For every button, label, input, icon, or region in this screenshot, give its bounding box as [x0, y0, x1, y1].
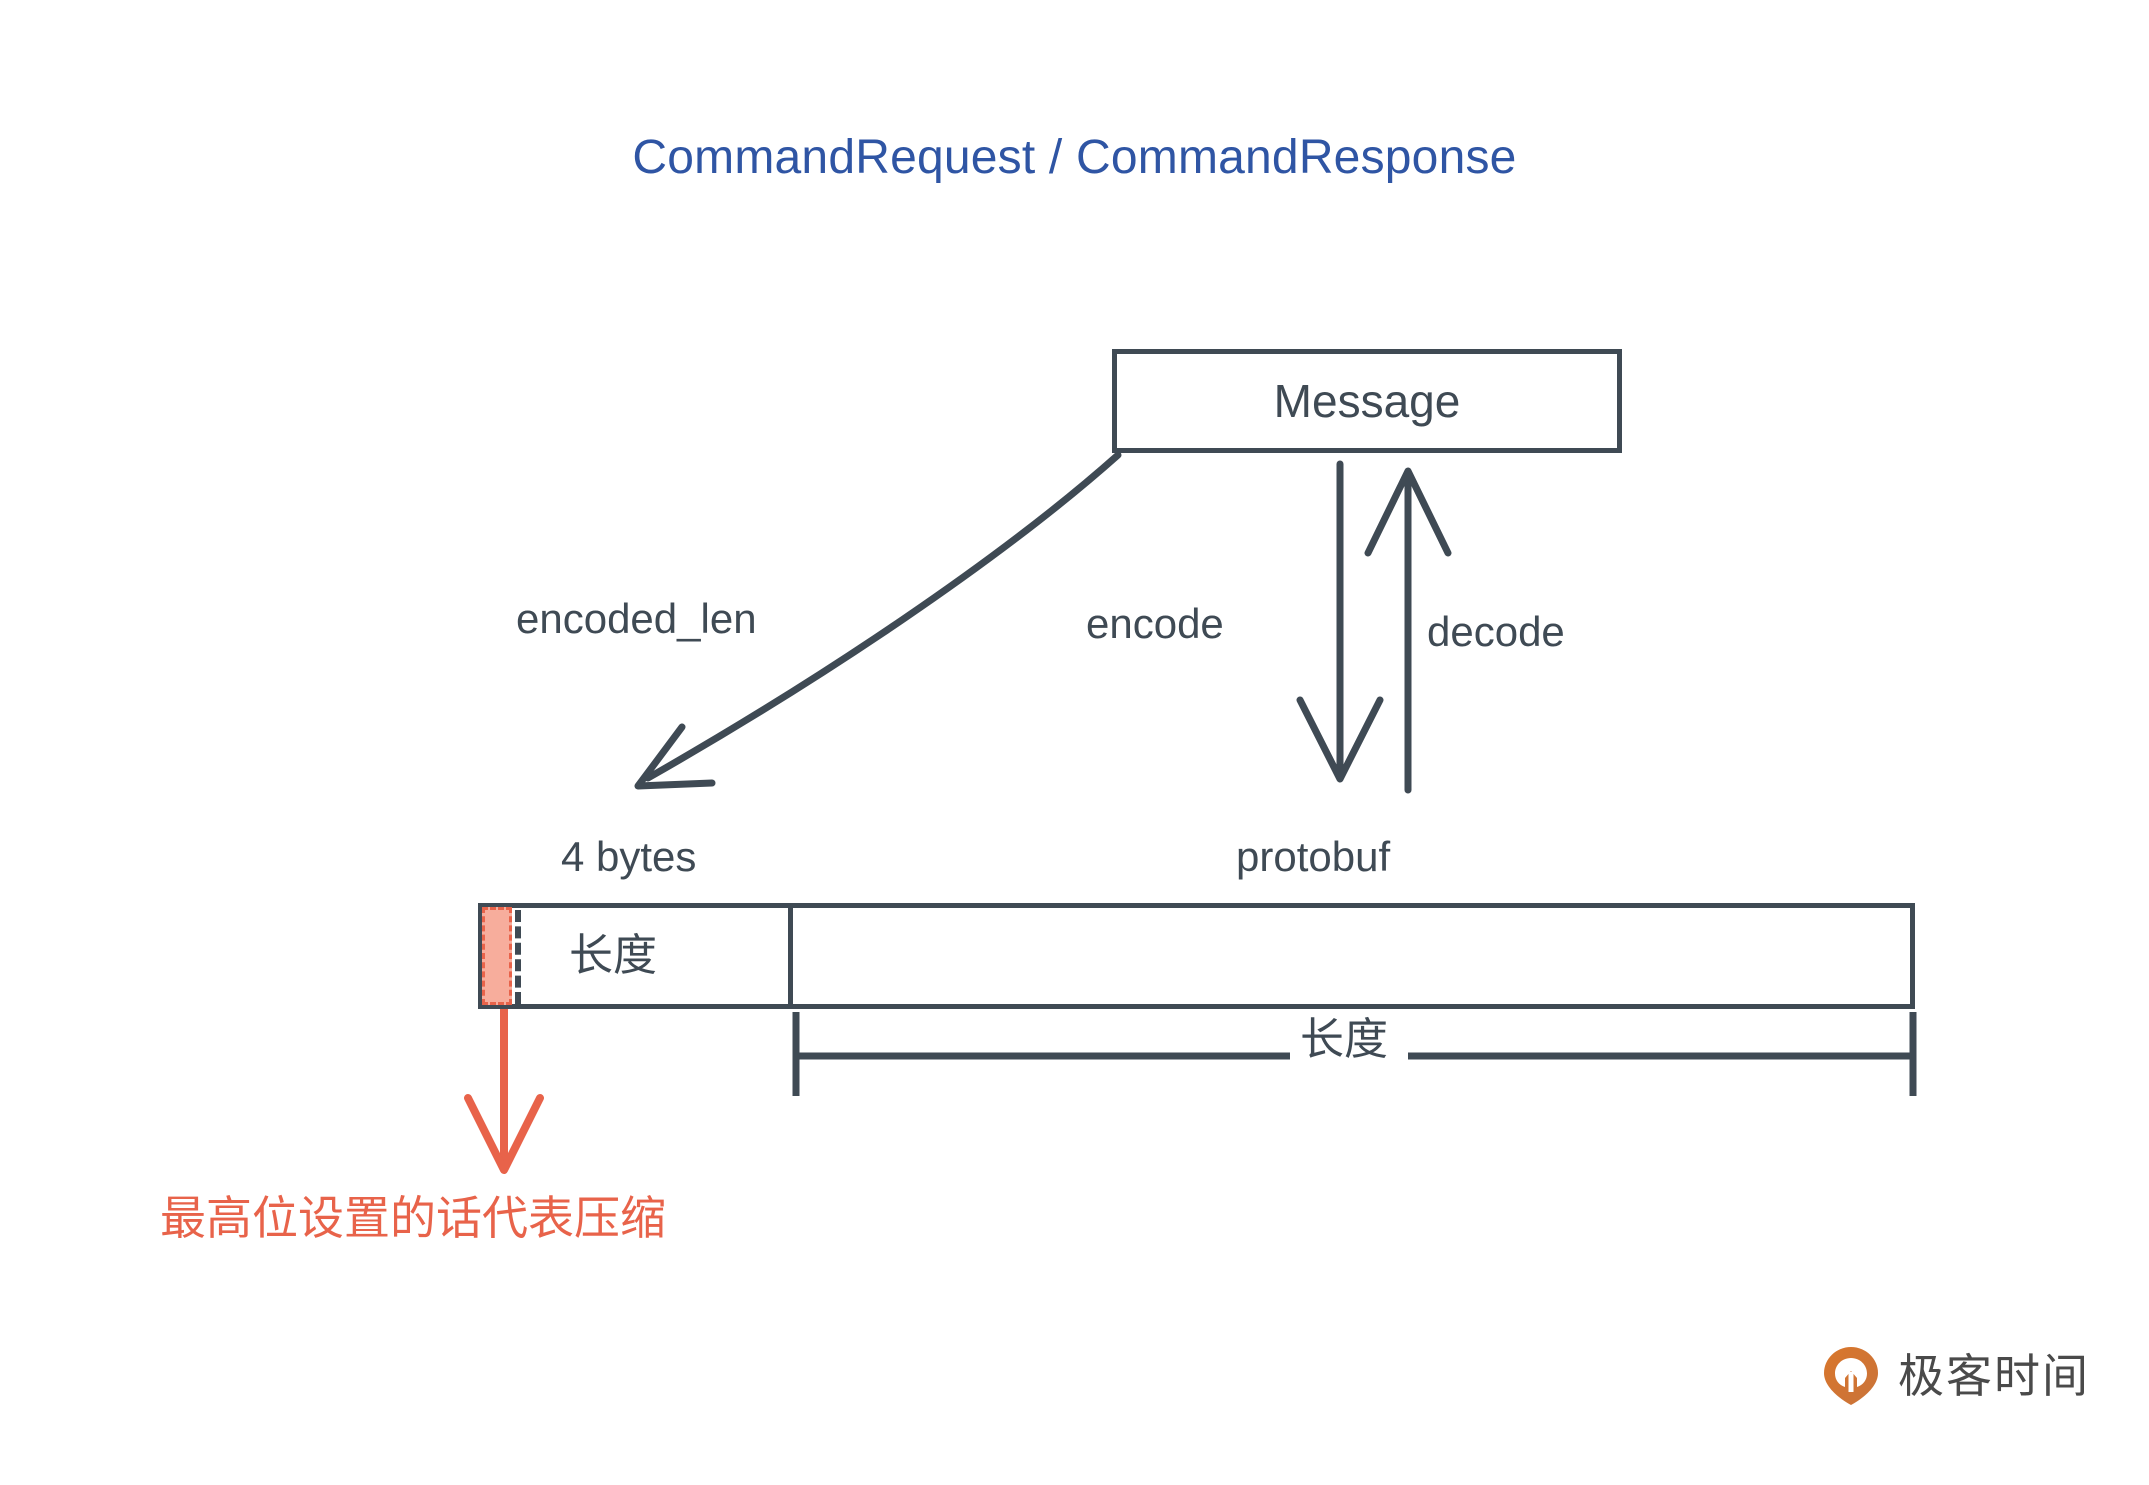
- byte-cell-length-label: 长度: [569, 934, 657, 978]
- byte-layout-bar: 长度: [478, 903, 1915, 1009]
- msb-callout-arrow: [468, 1000, 540, 1170]
- edge-label-encoded-len: encoded_len: [516, 598, 757, 640]
- msb-note-text: 最高位设置的话代表压缩: [160, 1195, 666, 1241]
- msb-highlight-cell: [482, 907, 512, 1005]
- edge-label-decode: decode: [1427, 611, 1565, 653]
- payload-span-label: 长度: [1290, 1018, 1398, 1062]
- msb-dashed-divider: [515, 910, 521, 1004]
- message-node: Message: [1112, 349, 1622, 453]
- annotation-protobuf: protobuf: [1236, 836, 1390, 878]
- page-title: CommandRequest / CommandResponse: [0, 130, 2149, 185]
- geektime-pin-icon: [1820, 1345, 1882, 1407]
- connector-overlay: [0, 0, 2149, 1485]
- byte-cell-payload: [793, 908, 1910, 1004]
- encode-arrow: [1300, 464, 1380, 779]
- geektime-wordmark: 极客时间: [1898, 1353, 2090, 1399]
- edge-label-encode: encode: [1086, 603, 1224, 645]
- byte-cell-length: 长度: [483, 908, 793, 1004]
- annotation-four-bytes: 4 bytes: [561, 836, 696, 878]
- diagram-canvas: CommandRequest / CommandResponse Message: [0, 0, 2149, 1485]
- geektime-logo: 极客时间: [1820, 1345, 2090, 1407]
- message-node-label: Message: [1274, 378, 1461, 424]
